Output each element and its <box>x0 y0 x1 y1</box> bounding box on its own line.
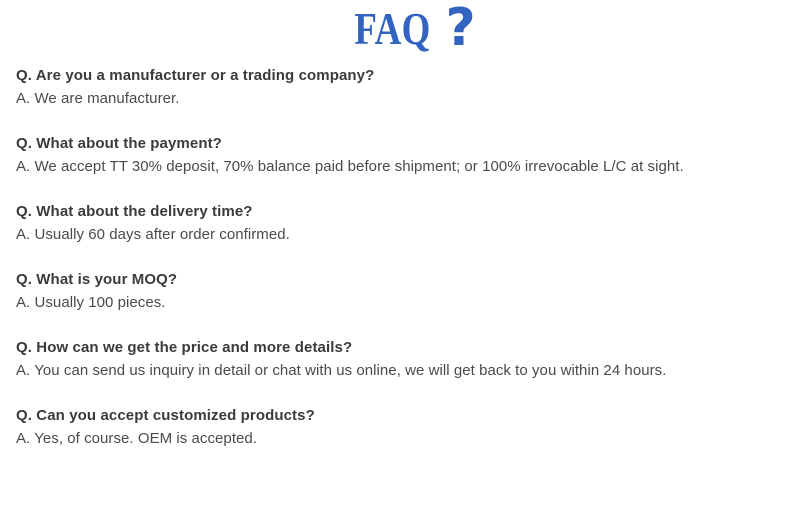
question-mark-icon: ? <box>445 2 475 54</box>
faq-answer: A. Yes, of course. OEM is accepted. <box>16 427 788 450</box>
faq-title-bar: FAQ? <box>0 2 800 54</box>
faq-item: Q. What is your MOQ? A. Usually 100 piec… <box>16 268 788 314</box>
faq-question: Q. Are you a manufacturer or a trading c… <box>16 64 788 87</box>
faq-answer: A. Usually 100 pieces. <box>16 291 788 314</box>
faq-list: Q. Are you a manufacturer or a trading c… <box>16 64 788 450</box>
faq-page: FAQ? Q. Are you a manufacturer or a trad… <box>0 0 800 525</box>
faq-question: Q. Can you accept customized products? <box>16 404 788 427</box>
faq-question: Q. What about the delivery time? <box>16 200 788 223</box>
faq-item: Q. What about the payment? A. We accept … <box>16 132 788 178</box>
faq-item: Q. How can we get the price and more det… <box>16 336 788 382</box>
faq-item: Q. Are you a manufacturer or a trading c… <box>16 64 788 110</box>
faq-question: Q. What about the payment? <box>16 132 788 155</box>
faq-answer: A. You can send us inquiry in detail or … <box>16 359 788 382</box>
faq-question: Q. What is your MOQ? <box>16 268 788 291</box>
faq-answer: A. Usually 60 days after order confirmed… <box>16 223 788 246</box>
faq-answer: A. We accept TT 30% deposit, 70% balance… <box>16 155 788 178</box>
faq-question: Q. How can we get the price and more det… <box>16 336 788 359</box>
faq-item: Q. What about the delivery time? A. Usua… <box>16 200 788 246</box>
faq-item: Q. Can you accept customized products? A… <box>16 404 788 450</box>
page-title: FAQ <box>355 7 431 52</box>
faq-answer: A. We are manufacturer. <box>16 87 788 110</box>
